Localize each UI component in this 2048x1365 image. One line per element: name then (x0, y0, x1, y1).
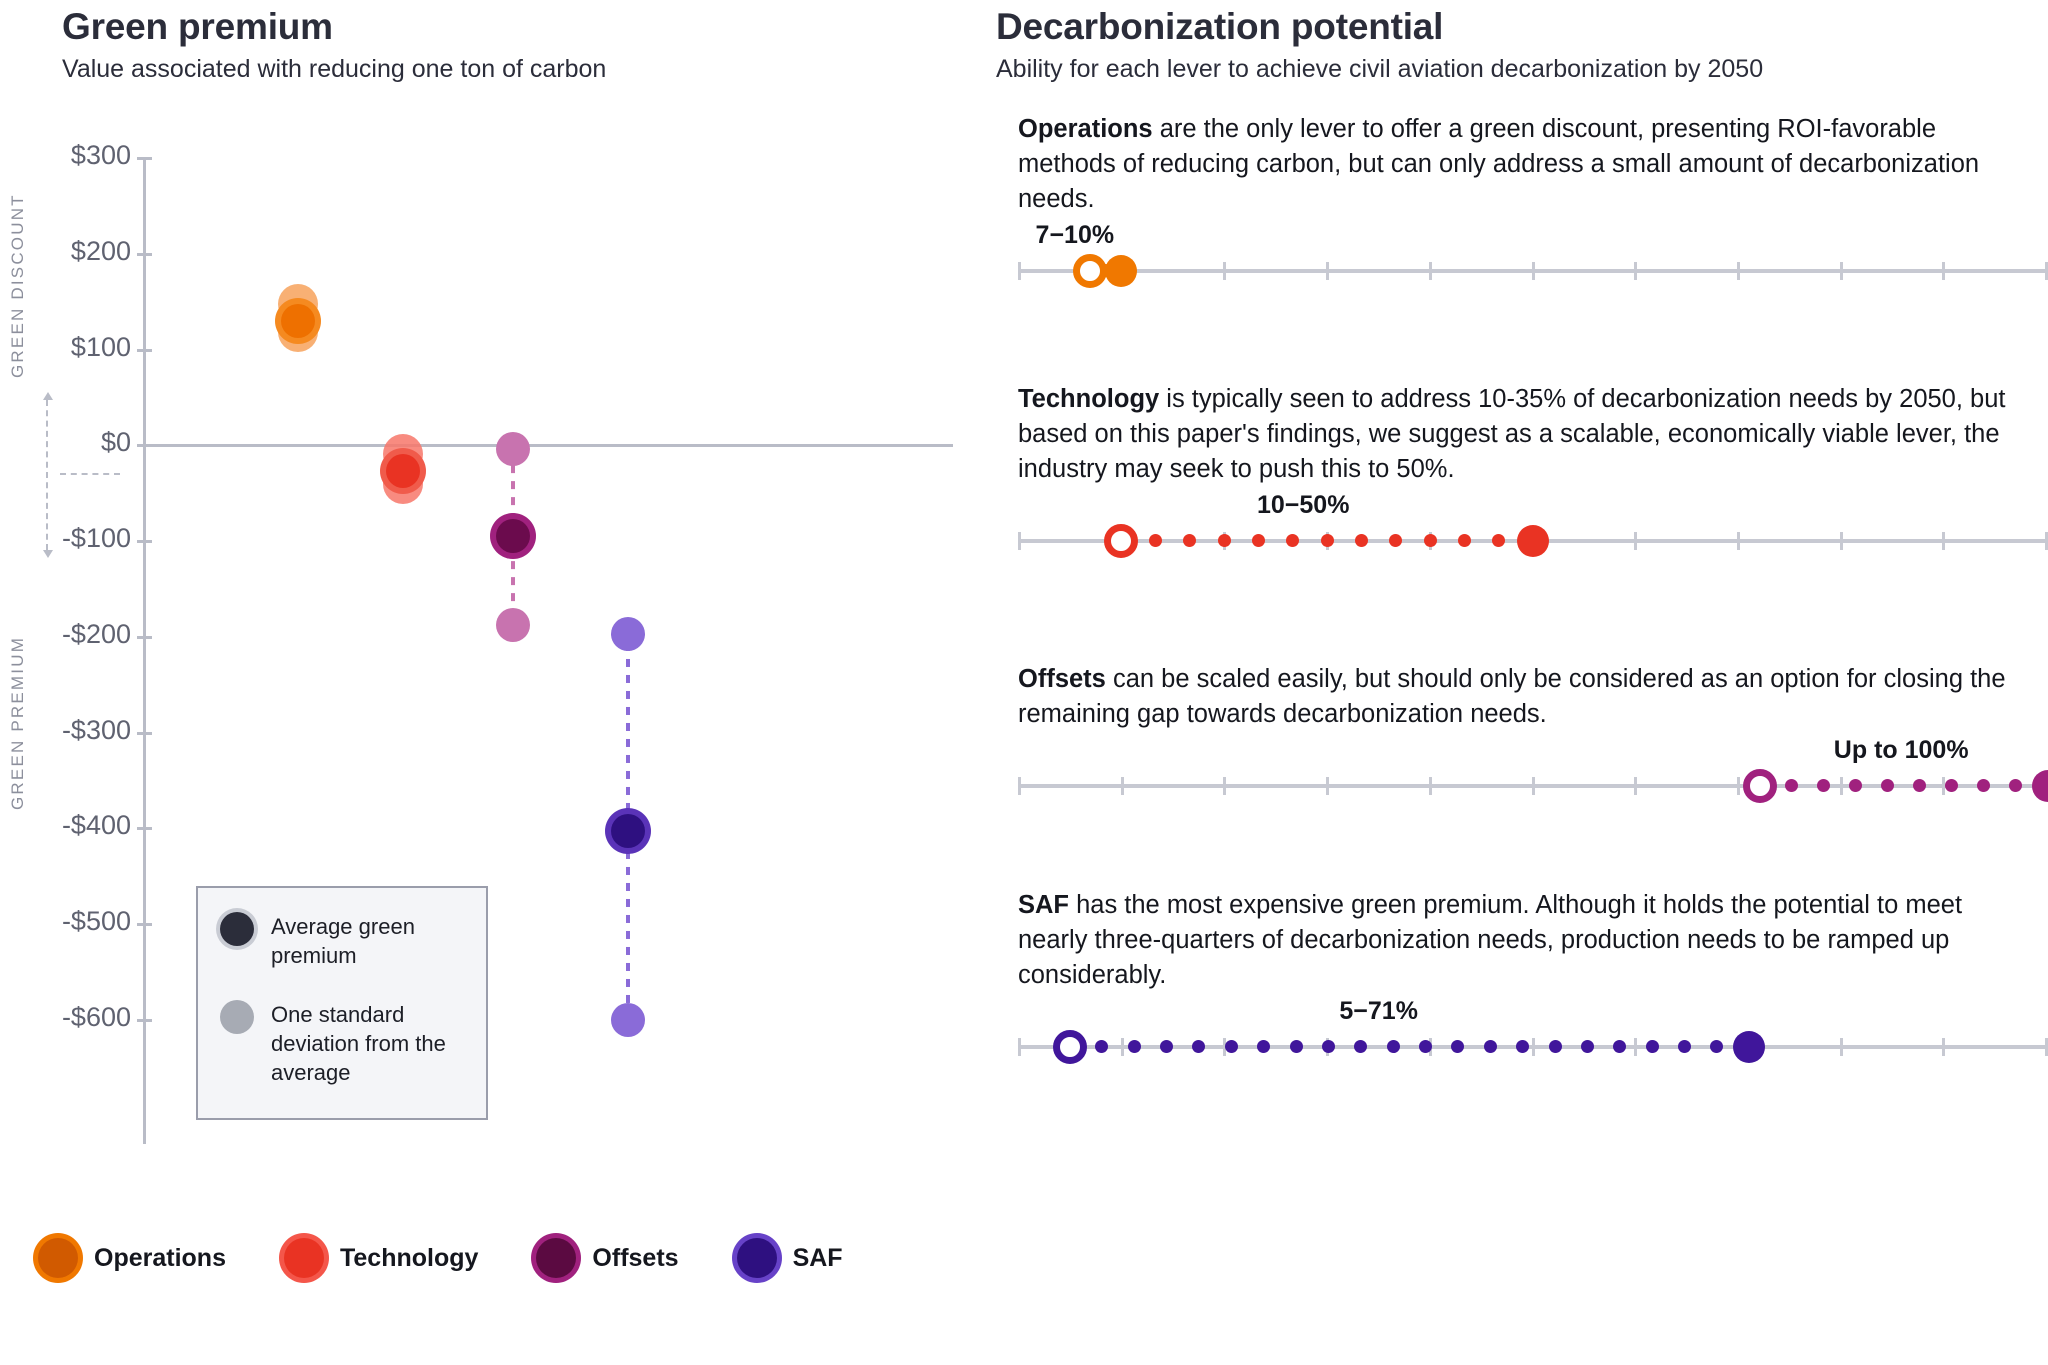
range-dot (1678, 1040, 1691, 1053)
range-end-marker (1733, 1031, 1765, 1063)
track-tick (1840, 532, 1843, 550)
legend-label-average: Average green premium (271, 912, 461, 970)
potential-track[interactable]: 10−50% (1018, 513, 2048, 567)
lever-block-saf: SAF has the most expensive green premium… (1018, 888, 2048, 1073)
range-dot (1389, 534, 1402, 547)
range-dot (1785, 779, 1798, 792)
range-dot (1424, 534, 1437, 547)
track-tick (1532, 1038, 1535, 1056)
range-dot (1977, 779, 1990, 792)
zero-guide-dash (60, 473, 120, 475)
y-axis-tick (137, 923, 152, 926)
y-axis-tick-label: -$100 (62, 523, 131, 554)
range-dot (1849, 779, 1862, 792)
track-tick (1429, 262, 1432, 280)
category-legend-label: Operations (94, 1244, 226, 1273)
y-axis-tick-label: -$500 (62, 906, 131, 937)
range-dot (1458, 534, 1471, 547)
y-axis-tick-label: $200 (71, 236, 131, 267)
track-tick (1634, 1038, 1637, 1056)
range-dot (1451, 1040, 1464, 1053)
range-end-marker (1105, 255, 1137, 287)
category-legend-item[interactable]: SAF (737, 1238, 843, 1278)
range-dot (1484, 1040, 1497, 1053)
y-axis-tick-label: -$300 (62, 715, 131, 746)
category-swatch (536, 1238, 576, 1278)
legend-item-standard-deviation: One standard deviation from the average (220, 1000, 461, 1087)
range-start-marker (1053, 1030, 1087, 1064)
range-dot (1183, 534, 1196, 547)
lever-description: Technology is typically seen to address … (1018, 382, 2028, 487)
right-page-subtitle: Ability for each lever to achieve civil … (996, 55, 1763, 84)
y-axis-tick (137, 253, 152, 256)
average-marker (386, 454, 420, 488)
range-dot (1945, 779, 1958, 792)
legend-label-standard-deviation: One standard deviation from the average (271, 1000, 461, 1087)
range-dot (1257, 1040, 1270, 1053)
track-tick (1737, 262, 1740, 280)
range-dot (1192, 1040, 1205, 1053)
range-dot (1095, 1040, 1108, 1053)
track-tick (1121, 777, 1124, 795)
y-axis-tick (137, 540, 152, 543)
track-tick (1223, 777, 1226, 795)
y-axis-tick (137, 349, 152, 352)
sd-upper-marker (611, 617, 645, 651)
y-axis-tick-label: $0 (101, 427, 131, 458)
category-legend-label: Offsets (592, 1244, 678, 1273)
range-dot (1613, 1040, 1626, 1053)
range-dot (1817, 779, 1830, 792)
lever-description: Offsets can be scaled easily, but should… (1018, 662, 2028, 732)
y-axis-tick-label: -$600 (62, 1002, 131, 1033)
standard-deviation-marker-swatch (220, 1000, 254, 1034)
track-tick (1737, 532, 1740, 550)
category-legend-label: Technology (340, 1244, 478, 1273)
range-dot (1549, 1040, 1562, 1053)
axis-label-green-premium: GREEN PREMIUM (8, 560, 28, 810)
range-dot (1355, 534, 1368, 547)
y-axis-tick (137, 732, 152, 735)
lever-name: Operations (1018, 115, 1153, 143)
range-end-marker (2032, 770, 2048, 802)
y-axis-tick (137, 157, 152, 160)
track-tick (1532, 777, 1535, 795)
range-dot (1322, 1040, 1335, 1053)
y-axis-tick (137, 636, 152, 639)
lever-name: Technology (1018, 385, 1159, 413)
lever-description: Operations are the only lever to offer a… (1018, 112, 2028, 217)
range-dot (1149, 534, 1162, 547)
lever-description: SAF has the most expensive green premium… (1018, 888, 2028, 993)
track-tick (1840, 1038, 1843, 1056)
decarbonization-potential-panel: Decarbonization potential Ability for ea… (996, 0, 2048, 1365)
range-dot (1492, 534, 1505, 547)
y-axis-tick-label: -$200 (62, 619, 131, 650)
range-dot (2009, 779, 2022, 792)
track-tick (1018, 262, 1021, 280)
track-tick (1634, 777, 1637, 795)
average-marker (281, 304, 315, 338)
category-legend-item[interactable]: Operations (38, 1238, 226, 1278)
y-axis-tick (137, 827, 152, 830)
y-axis-tick-label: -$400 (62, 810, 131, 841)
range-dot (1581, 1040, 1594, 1053)
category-swatch (38, 1238, 78, 1278)
range-dot (1286, 534, 1299, 547)
range-dot (1710, 1040, 1723, 1053)
range-dot (1321, 534, 1334, 547)
category-legend: OperationsTechnologyOffsetsSAF (38, 1238, 901, 1278)
track-tick (1840, 262, 1843, 280)
category-swatch (737, 1238, 777, 1278)
track-tick (1326, 262, 1329, 280)
potential-track[interactable]: 7−10% (1018, 243, 2048, 297)
green-premium-panel: Green premium Value associated with redu… (0, 0, 1000, 1365)
range-dot (1160, 1040, 1173, 1053)
y-axis-tick (137, 1019, 152, 1022)
track-tick (1942, 262, 1945, 280)
range-dot (1913, 779, 1926, 792)
track-tick (1223, 262, 1226, 280)
legend-item-average: Average green premium (220, 912, 461, 970)
track-tick (1326, 777, 1329, 795)
range-dot (1252, 534, 1265, 547)
category-swatch (284, 1238, 324, 1278)
track-tick (1018, 532, 1021, 550)
potential-track[interactable]: 5−71% (1018, 1019, 2048, 1073)
category-legend-item[interactable]: Offsets (536, 1238, 678, 1278)
lever-block-offsets: Offsets can be scaled easily, but should… (1018, 662, 2048, 812)
y-axis-tick-label: $300 (71, 140, 131, 171)
range-dot (1387, 1040, 1400, 1053)
range-dot (1354, 1040, 1367, 1053)
range-dot (1881, 779, 1894, 792)
lever-block-technology: Technology is typically seen to address … (1018, 382, 2048, 567)
track-tick (1840, 777, 1843, 795)
range-label: 5−71% (1339, 997, 1418, 1026)
track-tick (1121, 1038, 1124, 1056)
axis-direction-arrow-icon (46, 400, 48, 550)
right-page-title: Decarbonization potential (996, 6, 1443, 48)
range-label: Up to 100% (1834, 736, 1969, 765)
track-tick (1942, 1038, 1945, 1056)
page-subtitle: Value associated with reducing one ton o… (62, 55, 606, 84)
infographic-root: Green premium Value associated with redu… (0, 0, 2048, 1365)
range-end-marker (1517, 525, 1549, 557)
range-dot (1419, 1040, 1432, 1053)
track-tick (1018, 777, 1021, 795)
range-label: 7−10% (1036, 221, 1115, 250)
track-tick (1737, 777, 1740, 795)
marker-legend: Average green premium One standard devia… (196, 886, 488, 1120)
range-dot (1646, 1040, 1659, 1053)
track-tick (1634, 532, 1637, 550)
sd-upper-marker (496, 432, 530, 466)
range-start-marker (1073, 254, 1107, 288)
track-tick (1942, 532, 1945, 550)
range-dot (1218, 534, 1231, 547)
track-tick (1018, 1038, 1021, 1056)
lever-name: SAF (1018, 891, 1069, 919)
range-dot (1290, 1040, 1303, 1053)
range-dot (1516, 1040, 1529, 1053)
average-marker-swatch (220, 912, 254, 946)
range-start-marker (1743, 769, 1777, 803)
track-tick (1532, 262, 1535, 280)
potential-track[interactable]: Up to 100% (1018, 758, 2048, 812)
category-legend-label: SAF (793, 1244, 843, 1273)
y-axis (143, 158, 146, 1144)
sd-lower-marker (496, 608, 530, 642)
zero-reference-line (143, 444, 953, 447)
range-start-marker (1104, 524, 1138, 558)
lever-block-operations: Operations are the only lever to offer a… (1018, 112, 2048, 297)
range-label: 10−50% (1257, 491, 1349, 520)
track-tick (1634, 262, 1637, 280)
y-axis-tick-label: $100 (71, 332, 131, 363)
track-tick (1429, 777, 1432, 795)
page-title: Green premium (62, 6, 333, 48)
category-legend-item[interactable]: Technology (284, 1238, 478, 1278)
range-dot (1128, 1040, 1141, 1053)
sd-lower-marker (611, 1003, 645, 1037)
axis-label-green-discount: GREEN DISCOUNT (8, 148, 28, 378)
range-dot (1225, 1040, 1238, 1053)
lever-name: Offsets (1018, 665, 1106, 693)
